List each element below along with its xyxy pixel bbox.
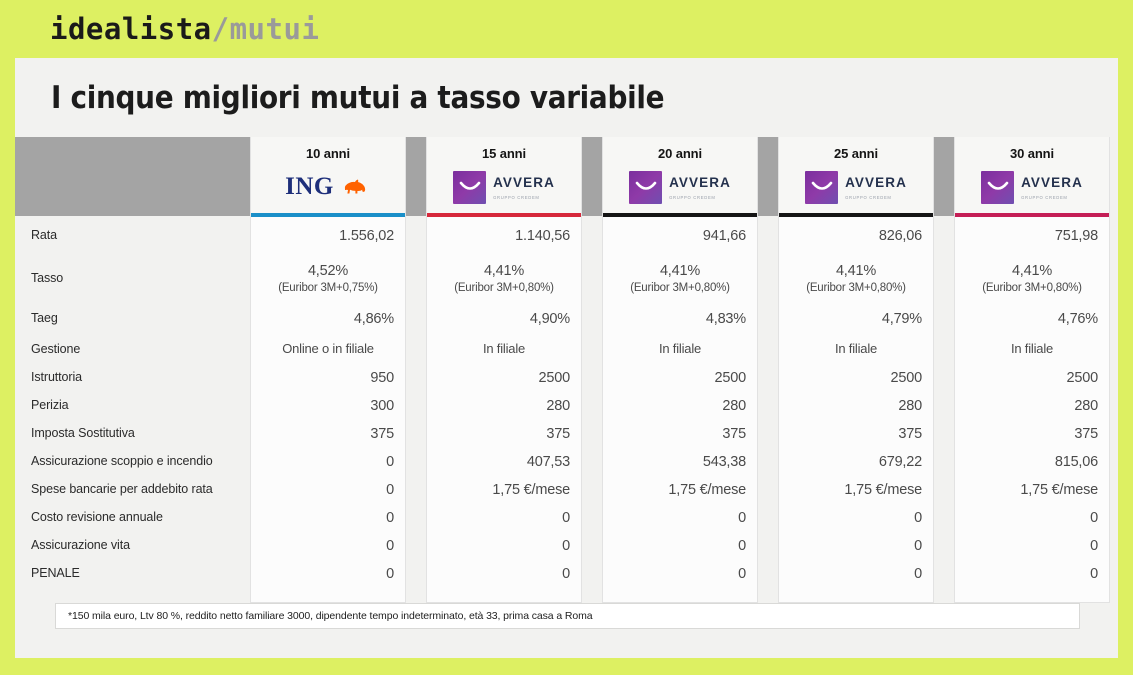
column-header: 30 anni AVVERA GRUPPO CREDEM: [955, 137, 1109, 213]
cell-taeg: 4,79%: [779, 303, 933, 335]
cell-assicurazione_vita: 0: [955, 532, 1109, 560]
cell-istruttoria: 2500: [603, 364, 757, 392]
avvera-smile-icon: [629, 171, 662, 204]
row-label: Tasso: [22, 254, 230, 302]
column-term-label: 20 anni: [658, 146, 702, 161]
cell-costo_revisione: 0: [779, 504, 933, 532]
row-label-column: RataTassoTaegGestioneIstruttoriaPeriziaI…: [15, 137, 230, 603]
avvera-logo: AVVERA GRUPPO CREDEM: [453, 171, 555, 204]
column-header: 10 anni ING: [251, 137, 405, 213]
cell-gestione: In filiale: [955, 335, 1109, 364]
cell-penale: 0: [251, 560, 405, 588]
column-gap: [230, 137, 250, 603]
cell-perizia: 280: [427, 392, 581, 420]
cell-penale: 0: [603, 560, 757, 588]
content-panel: I cinque migliori mutui a tasso variabil…: [15, 58, 1118, 658]
tasso-value: 4,41%: [660, 262, 700, 281]
avvera-tagline: GRUPPO CREDEM: [1021, 195, 1083, 200]
cell-spese_bancarie: 0: [251, 476, 405, 504]
bank-column-15-anni[interactable]: 15 anni AVVERA GRUPPO CREDEM 1.140,564,4…: [426, 137, 582, 603]
logo-suffix: /mutui: [212, 12, 320, 46]
cell-assicurazione_scoppio: 815,06: [955, 448, 1109, 476]
column-bottom-pad: [779, 588, 933, 602]
cell-gestione: In filiale: [603, 335, 757, 364]
cell-tasso: 4,41%(Euribor 3M+0,80%): [779, 255, 933, 303]
ing-wordmark: ING: [285, 173, 334, 201]
avvera-name: AVVERA: [669, 175, 731, 190]
cell-perizia: 280: [603, 392, 757, 420]
cell-spese_bancarie: 1,75 €/mese: [779, 476, 933, 504]
cell-gestione: In filiale: [779, 335, 933, 364]
comparison-table: RataTassoTaegGestioneIstruttoriaPeriziaI…: [15, 137, 1118, 592]
logo-bar: idealista/mutui: [0, 0, 1133, 58]
cell-spese_bancarie: 1,75 €/mese: [955, 476, 1109, 504]
tasso-detail: (Euribor 3M+0,80%): [982, 281, 1082, 296]
row-label: Taeg: [22, 302, 230, 334]
column-header: 25 anni AVVERA GRUPPO CREDEM: [779, 137, 933, 213]
footnote-text: *150 mila euro, Ltv 80 %, reddito netto …: [68, 610, 593, 622]
cell-assicurazione_vita: 0: [427, 532, 581, 560]
cell-rata: 826,06: [779, 217, 933, 255]
cell-spese_bancarie: 1,75 €/mese: [427, 476, 581, 504]
row-label: Rata: [22, 216, 230, 254]
cell-assicurazione_vita: 0: [251, 532, 405, 560]
avvera-smile-icon: [981, 171, 1014, 204]
cell-imposta_sostitutiva: 375: [427, 420, 581, 448]
cell-taeg: 4,76%: [955, 303, 1109, 335]
cell-tasso: 4,41%(Euribor 3M+0,80%): [603, 255, 757, 303]
cell-perizia: 280: [955, 392, 1109, 420]
page-title: I cinque migliori mutui a tasso variabil…: [15, 58, 1118, 116]
cell-costo_revisione: 0: [603, 504, 757, 532]
cell-tasso: 4,52%(Euribor 3M+0,75%): [251, 255, 405, 303]
column-header: 20 anni AVVERA GRUPPO CREDEM: [603, 137, 757, 213]
avvera-wordmark: AVVERA GRUPPO CREDEM: [669, 174, 731, 200]
bank-column-10-anni[interactable]: 10 anni ING 1.556,024,52%(Euribor 3M+0,7…: [250, 137, 406, 603]
bank-logo-slot: AVVERA GRUPPO CREDEM: [603, 161, 757, 213]
avvera-tagline: GRUPPO CREDEM: [669, 195, 731, 200]
row-label: PENALE: [22, 559, 230, 587]
bank-logo-slot: AVVERA GRUPPO CREDEM: [779, 161, 933, 213]
bank-logo-slot: AVVERA GRUPPO CREDEM: [427, 161, 581, 213]
column-term-label: 15 anni: [482, 146, 526, 161]
cell-assicurazione_scoppio: 407,53: [427, 448, 581, 476]
row-label: Assicurazione scoppio e incendio: [22, 447, 230, 475]
row-label-header-spacer: [22, 137, 230, 216]
tasso-detail: (Euribor 3M+0,80%): [806, 281, 906, 296]
row-label: Gestione: [22, 334, 230, 363]
cell-penale: 0: [955, 560, 1109, 588]
column-gap: [406, 137, 426, 603]
cell-imposta_sostitutiva: 375: [955, 420, 1109, 448]
ing-logo: ING: [285, 173, 371, 201]
tasso-detail: (Euribor 3M+0,80%): [454, 281, 554, 296]
cell-tasso: 4,41%(Euribor 3M+0,80%): [427, 255, 581, 303]
avvera-logo: AVVERA GRUPPO CREDEM: [981, 171, 1083, 204]
avvera-name: AVVERA: [1021, 175, 1083, 190]
cell-imposta_sostitutiva: 375: [603, 420, 757, 448]
cell-tasso: 4,41%(Euribor 3M+0,80%): [955, 255, 1109, 303]
avvera-wordmark: AVVERA GRUPPO CREDEM: [1021, 174, 1083, 200]
cell-penale: 0: [427, 560, 581, 588]
cell-rata: 941,66: [603, 217, 757, 255]
tasso-value: 4,41%: [1012, 262, 1052, 281]
tasso-detail: (Euribor 3M+0,80%): [630, 281, 730, 296]
cell-assicurazione_vita: 0: [779, 532, 933, 560]
avvera-smile-icon: [453, 171, 486, 204]
cell-assicurazione_scoppio: 679,22: [779, 448, 933, 476]
cell-perizia: 280: [779, 392, 933, 420]
cell-assicurazione_scoppio: 543,38: [603, 448, 757, 476]
avvera-wordmark: AVVERA GRUPPO CREDEM: [845, 174, 907, 200]
avvera-wordmark: AVVERA GRUPPO CREDEM: [493, 174, 555, 200]
cell-assicurazione_scoppio: 0: [251, 448, 405, 476]
row-label: Imposta Sostitutiva: [22, 419, 230, 447]
column-bottom-pad: [251, 588, 405, 602]
avvera-name: AVVERA: [845, 175, 907, 190]
avvera-logo: AVVERA GRUPPO CREDEM: [805, 171, 907, 204]
cell-rata: 751,98: [955, 217, 1109, 255]
footnote: *150 mila euro, Ltv 80 %, reddito netto …: [55, 603, 1080, 629]
cell-costo_revisione: 0: [955, 504, 1109, 532]
column-gap: [758, 137, 778, 603]
cell-istruttoria: 2500: [427, 364, 581, 392]
column-term-label: 10 anni: [306, 146, 350, 161]
cell-istruttoria: 2500: [955, 364, 1109, 392]
bank-logo-slot: ING: [251, 161, 405, 213]
column-bottom-pad: [603, 588, 757, 602]
row-label: Spese bancarie per addebito rata: [22, 475, 230, 503]
column-gap: [934, 137, 954, 603]
row-label: Perizia: [22, 391, 230, 419]
column-header: 15 anni AVVERA GRUPPO CREDEM: [427, 137, 581, 213]
ing-lion-icon: [341, 176, 371, 198]
cell-imposta_sostitutiva: 375: [779, 420, 933, 448]
row-label: Costo revisione annuale: [22, 503, 230, 531]
cell-rata: 1.556,02: [251, 217, 405, 255]
cell-gestione: In filiale: [427, 335, 581, 364]
cell-penale: 0: [779, 560, 933, 588]
logo-brand: idealista: [50, 12, 212, 46]
cell-taeg: 4,83%: [603, 303, 757, 335]
tasso-detail: (Euribor 3M+0,75%): [278, 281, 378, 296]
bank-logo-slot: AVVERA GRUPPO CREDEM: [955, 161, 1109, 213]
column-term-label: 30 anni: [1010, 146, 1054, 161]
avvera-tagline: GRUPPO CREDEM: [845, 195, 907, 200]
column-bottom-pad: [955, 588, 1109, 602]
avvera-tagline: GRUPPO CREDEM: [493, 195, 555, 200]
cell-gestione: Online o in filiale: [251, 335, 405, 364]
column-bottom-pad: [427, 588, 581, 602]
avvera-name: AVVERA: [493, 175, 555, 190]
avvera-logo: AVVERA GRUPPO CREDEM: [629, 171, 731, 204]
column-gap: [582, 137, 602, 603]
cell-taeg: 4,86%: [251, 303, 405, 335]
cell-spese_bancarie: 1,75 €/mese: [603, 476, 757, 504]
tasso-value: 4,41%: [484, 262, 524, 281]
idealista-mutui-logo[interactable]: idealista/mutui: [50, 12, 319, 46]
table-grid: RataTassoTaegGestioneIstruttoriaPeriziaI…: [15, 137, 1118, 603]
cell-costo_revisione: 0: [427, 504, 581, 532]
bank-column-20-anni[interactable]: 20 anni AVVERA GRUPPO CREDEM 941,664,41%…: [602, 137, 758, 603]
cell-imposta_sostitutiva: 375: [251, 420, 405, 448]
bank-column-30-anni[interactable]: 30 anni AVVERA GRUPPO CREDEM 751,984,41%…: [954, 137, 1110, 603]
row-label: Istruttoria: [22, 363, 230, 391]
tasso-value: 4,41%: [836, 262, 876, 281]
cell-rata: 1.140,56: [427, 217, 581, 255]
bank-column-25-anni[interactable]: 25 anni AVVERA GRUPPO CREDEM 826,064,41%…: [778, 137, 934, 603]
row-label: Assicurazione vita: [22, 531, 230, 559]
cell-taeg: 4,90%: [427, 303, 581, 335]
column-term-label: 25 anni: [834, 146, 878, 161]
cell-istruttoria: 950: [251, 364, 405, 392]
cell-istruttoria: 2500: [779, 364, 933, 392]
cell-perizia: 300: [251, 392, 405, 420]
cell-costo_revisione: 0: [251, 504, 405, 532]
tasso-value: 4,52%: [308, 262, 348, 281]
cell-assicurazione_vita: 0: [603, 532, 757, 560]
avvera-smile-icon: [805, 171, 838, 204]
